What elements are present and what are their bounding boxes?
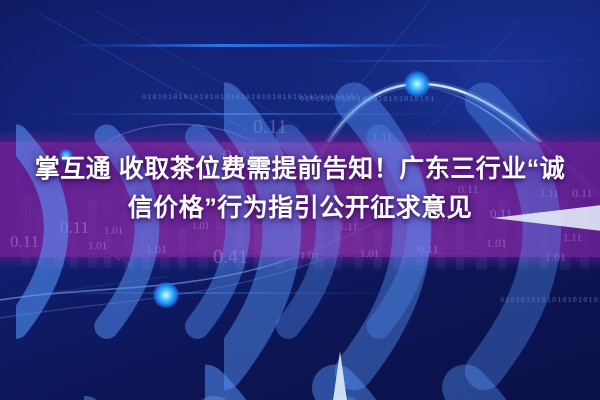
glow-node-curve-peak [404, 71, 430, 97]
headline-line-1: 掌互通 收取茶位费需提前告知！广东三行业“诚 [0, 150, 600, 189]
news-banner-image: 0101010101010101010101010101010101010101… [0, 0, 600, 400]
chevron-arrows-bottom-left-icon [84, 336, 600, 400]
chevron-arrows-mid-right-icon [205, 303, 600, 400]
headline-line-2: 信价格”行为指引公开征求意见 [0, 189, 600, 228]
sparkle-bottom-left-icon [40, 351, 600, 400]
glow-node-lower-line [153, 282, 179, 308]
headline-text: 掌互通 收取茶位费需提前告知！广东三行业“诚 信价格”行为指引公开征求意见 [0, 150, 600, 228]
